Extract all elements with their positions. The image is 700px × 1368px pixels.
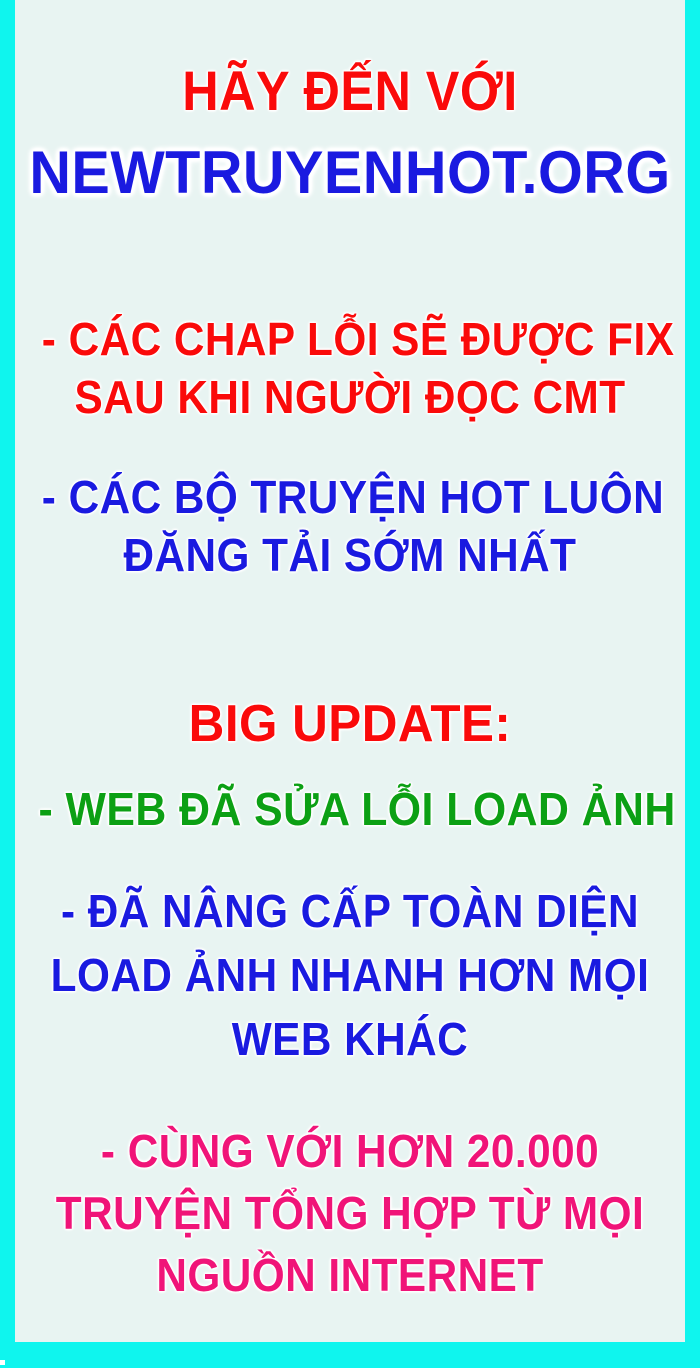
fix-notice-line-2: SAU KHI NGƯỜI ĐỌC CMT	[42, 370, 658, 424]
corner-marker	[0, 1360, 5, 1365]
full-upgrade-line-3: WEB KHÁC	[42, 1012, 658, 1066]
update-section-heading: BIG UPDATE:	[32, 694, 669, 754]
banner-content-panel: HÃY ĐẾN VỚI NEWTRUYENHOT.ORG - CÁC CHAP …	[15, 0, 685, 1342]
site-url-text[interactable]: NEWTRUYENHOT.ORG	[28, 138, 671, 207]
right-accent-strip	[685, 0, 700, 1368]
hot-series-notice-line-1: - CÁC BỘ TRUYỆN HOT LUÔN	[42, 470, 658, 524]
full-upgrade-line-1: - ĐÃ NÂNG CẤP TOÀN DIỆN	[42, 884, 658, 938]
image-load-fix-line-1: - WEB ĐÃ SỬA LỖI LOAD ẢNH	[38, 782, 661, 836]
fix-notice-line-1: - CÁC CHAP LỖI SẼ ĐƯỢC FIX	[42, 312, 658, 366]
left-accent-strip	[0, 0, 15, 1368]
series-count-line-1: - CÙNG VỚI HƠN 20.000	[42, 1124, 658, 1178]
headline-invite-text: HÃY ĐẾN VỚI	[49, 58, 652, 123]
full-upgrade-line-2: LOAD ẢNH NHANH HƠN MỌI	[42, 948, 658, 1002]
series-count-line-3: NGUỒN INTERNET	[42, 1248, 658, 1302]
bottom-accent-strip	[0, 1342, 700, 1368]
series-count-line-2: TRUYỆN TỔNG HỢP TỪ MỌI	[42, 1186, 658, 1240]
hot-series-notice-line-2: ĐĂNG TẢI SỚM NHẤT	[42, 528, 658, 582]
promo-banner: HÃY ĐẾN VỚI NEWTRUYENHOT.ORG - CÁC CHAP …	[0, 0, 700, 1368]
